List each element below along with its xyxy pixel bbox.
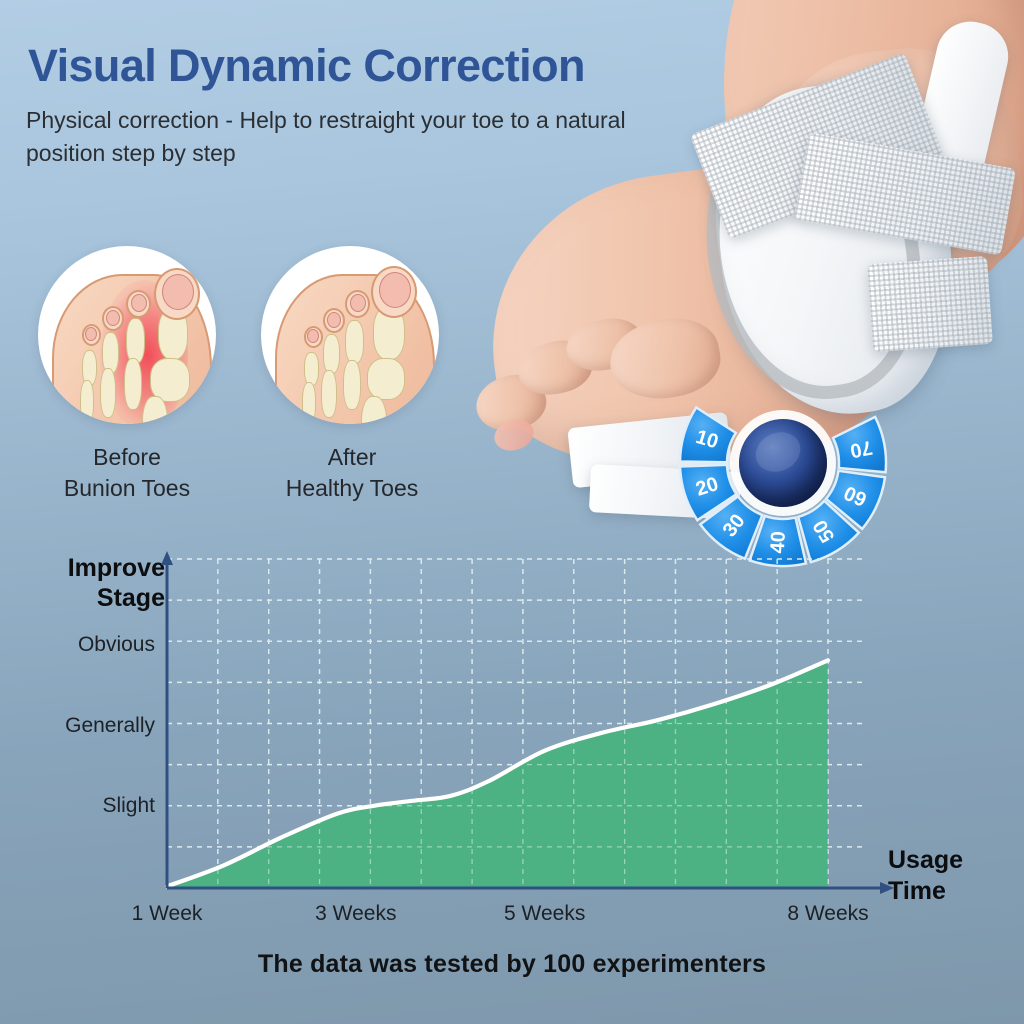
toenail-2 (350, 294, 366, 312)
x-tick-3-weeks: 3 Weeks (286, 902, 426, 926)
toenail-4 (85, 327, 97, 341)
illustration-after (261, 246, 439, 424)
poster-canvas: Visual Dynamic Correction Physical corre… (0, 0, 1024, 1024)
bone-shaft-2 (124, 358, 142, 410)
adjustment-dial[interactable]: 10203040506070 (678, 358, 888, 568)
bone-shaft-2 (343, 360, 361, 410)
chart-footnote: The data was tested by 100 experimenters (0, 950, 1024, 979)
x-tick-8-weeks: 8 Weeks (758, 902, 898, 926)
caption-after-line2: Healthy Toes (237, 473, 467, 504)
y-tick-obvious: Obvious (0, 633, 155, 657)
bone-shaft-4 (302, 382, 316, 424)
dial-hub (739, 419, 827, 507)
toenail-big (379, 272, 411, 308)
velcro-strap-side (867, 256, 993, 352)
toenail-2 (131, 294, 147, 312)
y-tick-generally: Generally (0, 714, 155, 738)
toenail-3 (327, 312, 341, 328)
bone-metatarsal-2 (126, 318, 145, 364)
x-axis-arrow (880, 882, 894, 894)
caption-before-line2: Bunion Toes (12, 473, 242, 504)
toenail-4 (307, 329, 319, 343)
bone-shaft-3 (100, 368, 116, 418)
improvement-chart: Improve Stage Usage Time SlightGenerally… (0, 545, 1024, 945)
illustration-before (38, 246, 216, 424)
caption-after: After Healthy Toes (237, 442, 467, 504)
bone-metatarsal-2 (345, 320, 364, 364)
bone-metatarsal-4 (304, 352, 319, 386)
y-axis-arrow (161, 551, 173, 565)
toenail-3 (106, 310, 120, 326)
y-tick-slight: Slight (0, 794, 155, 818)
bone-shaft-4 (80, 380, 94, 424)
bone-joint-1 (367, 358, 405, 400)
caption-after-line1: After (237, 442, 467, 473)
bone-shaft-3 (321, 370, 337, 418)
x-tick-1-week: 1 Week (97, 902, 237, 926)
x-tick-5-weeks: 5 Weeks (475, 902, 615, 926)
caption-before-line1: Before (12, 442, 242, 473)
caption-before: Before Bunion Toes (12, 442, 242, 504)
chart-plot (0, 545, 1024, 945)
toenail-big (162, 274, 194, 310)
bone-metatarsal-3 (323, 334, 340, 374)
